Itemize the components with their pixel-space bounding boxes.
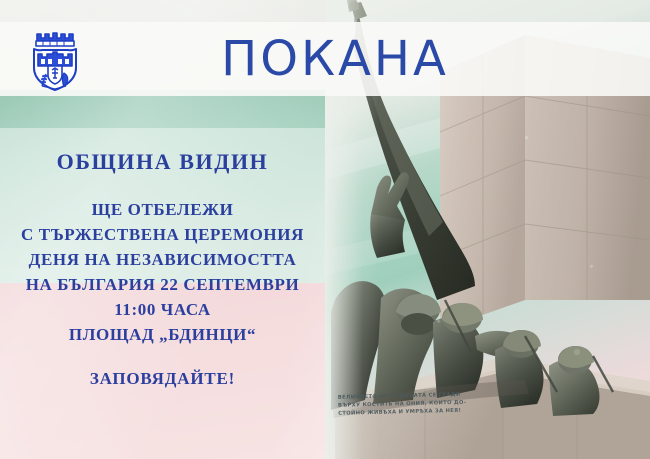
- invitation-poster: ВЕЛИЧИЕТО НА РОДИНАТА СЕ ГРАДИ ВЪРХУ КОС…: [0, 0, 650, 459]
- invitation-text-panel: ОБЩИНА ВИДИН ЩЕ ОТБЕЛЕЖИ С ТЪРЖЕСТВЕНА Ц…: [0, 128, 325, 459]
- invitation-line: С ТЪРЖЕСТВЕНА ЦЕРЕМОНИЯ: [21, 225, 304, 245]
- organization-name: ОБЩИНА ВИДИН: [57, 150, 269, 174]
- invitation-line: ЩЕ ОТБЕЛЕЖИ: [92, 200, 234, 220]
- invitation-line: НА БЪЛГАРИЯ 22 СЕПТЕМВРИ: [26, 275, 300, 295]
- invitation-closing: ЗАПОВЯДАЙТЕ!: [90, 369, 235, 389]
- invitation-line-time: 11:00 ЧАСА: [114, 300, 211, 320]
- page-title: ПОКАНА: [0, 22, 650, 96]
- invitation-body: ЩЕ ОТБЕЛЕЖИ С ТЪРЖЕСТВЕНА ЦЕРЕМОНИЯ ДЕНЯ…: [21, 200, 304, 345]
- invitation-line-place: ПЛОЩАД „БДИНЦИ“: [69, 325, 256, 345]
- invitation-line: ДЕНЯ НА НЕЗАВИСИМОСТТА: [29, 250, 297, 270]
